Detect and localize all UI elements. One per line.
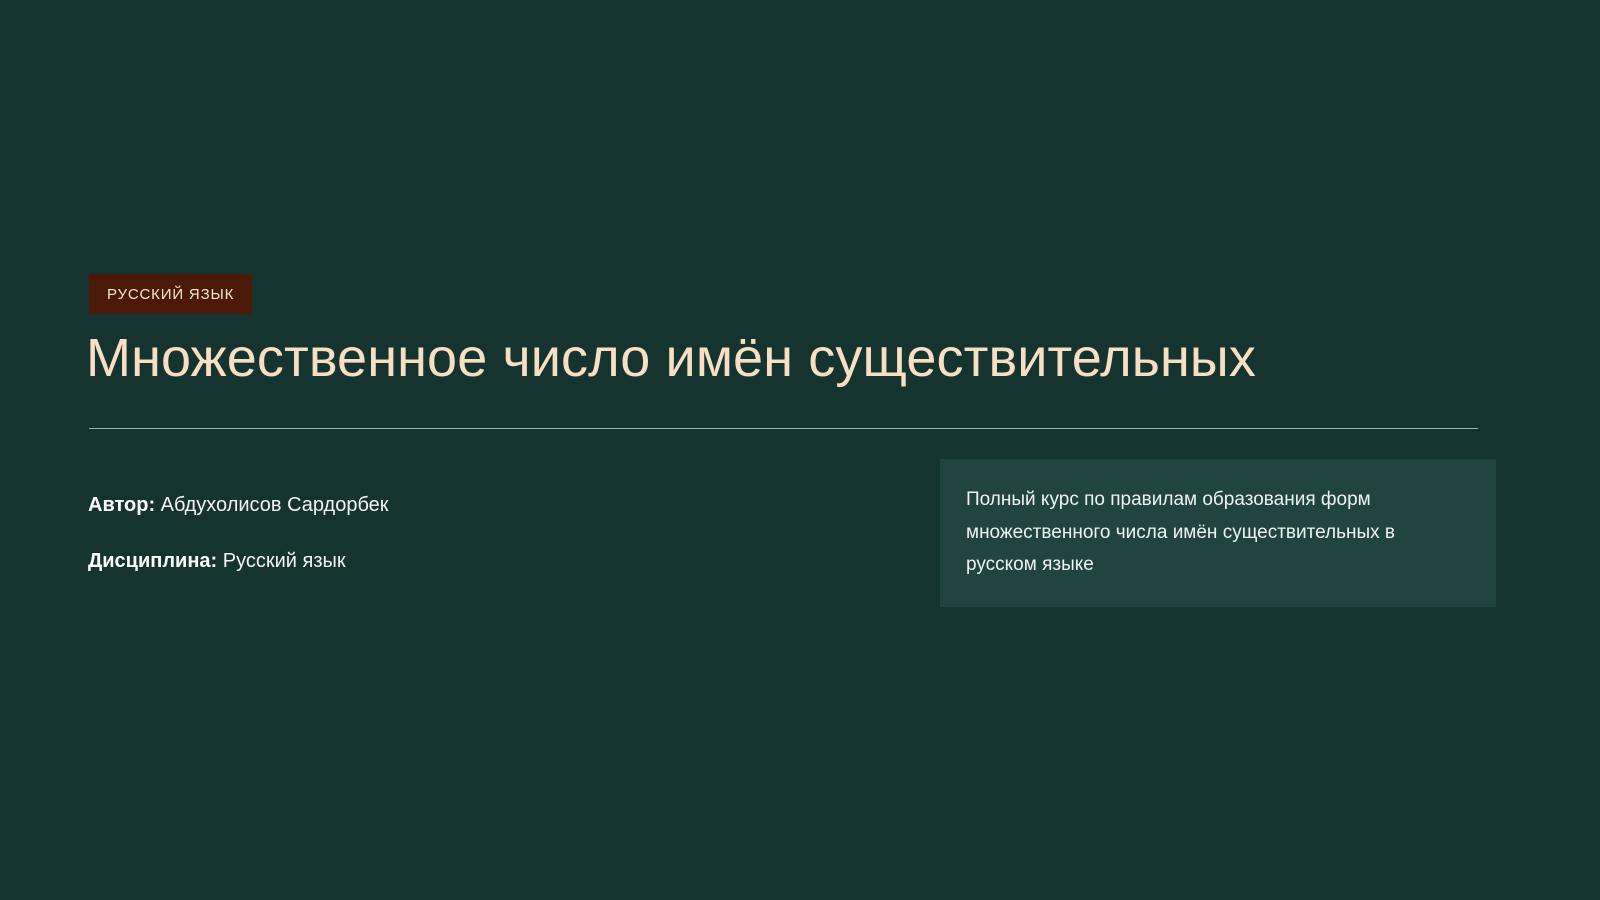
metadata-row-discipline: Дисциплина: Русский язык	[88, 546, 848, 576]
discipline-value: Русский язык	[223, 550, 346, 572]
discipline-separator: :	[211, 550, 223, 572]
description-card: Полный курс по правилам образования форм…	[940, 459, 1496, 607]
slide-title: Множественное число имён существительных	[86, 327, 1506, 391]
title-divider	[89, 428, 1478, 429]
description-text: Полный курс по правилам образования форм…	[966, 484, 1470, 582]
discipline-label: Дисциплина	[88, 550, 211, 572]
subject-badge: РУССКИЙ ЯЗЫК	[89, 274, 252, 314]
author-label: Автор	[88, 494, 148, 516]
metadata-row-author: Автор: Абдухолисов Сардорбек	[88, 490, 848, 520]
author-separator: :	[148, 494, 160, 516]
title-slide: РУССКИЙ ЯЗЫК Множественное число имён су…	[0, 0, 1600, 900]
subject-badge-label: РУССКИЙ ЯЗЫК	[107, 286, 234, 303]
metadata-block: Автор: Абдухолисов Сардорбек Дисциплина:…	[88, 490, 848, 576]
author-value: Абдухолисов Сардорбек	[161, 494, 389, 516]
